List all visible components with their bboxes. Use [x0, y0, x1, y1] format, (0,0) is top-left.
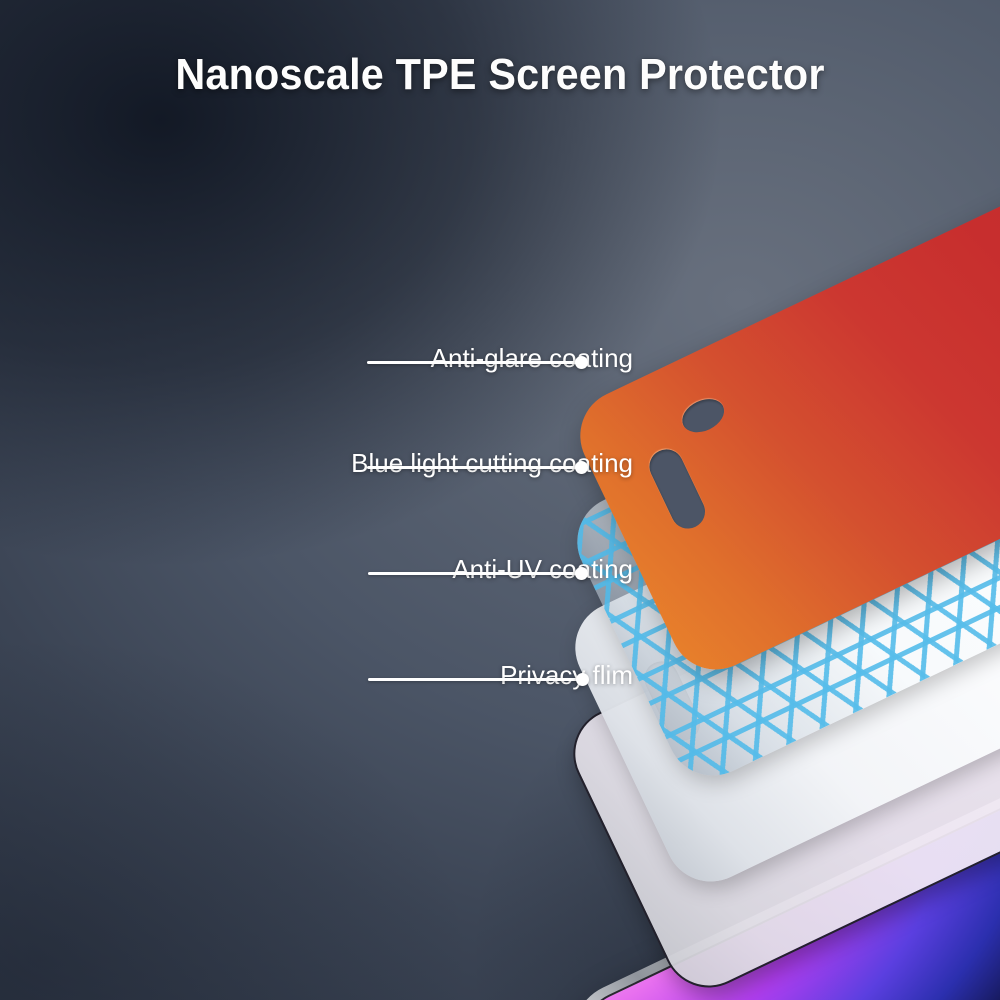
callout-privacy-film: Privacy flim — [0, 662, 633, 688]
callout-label: Anti-UV coating — [452, 556, 633, 582]
exploded-layer-stack — [0, 0, 1000, 1000]
leader-endpoint-dot — [575, 567, 588, 580]
callout-blue-light: Blue light cutting coating — [0, 450, 633, 476]
callout-anti-uv: Anti-UV coating — [0, 556, 633, 582]
leader-line — [368, 572, 581, 575]
leader-line — [368, 678, 582, 681]
leader-endpoint-dot — [576, 673, 589, 686]
camera-cutout-icon — [677, 393, 730, 439]
callout-label: Blue light cutting coating — [351, 450, 633, 476]
leader-endpoint-dot — [575, 461, 588, 474]
speaker-cutout-icon — [644, 444, 711, 534]
callout-label: Privacy flim — [500, 662, 633, 688]
leader-line — [367, 466, 581, 469]
leader-endpoint-dot — [575, 356, 588, 369]
infographic-canvas: Nanoscale TPE Screen Protector — [0, 0, 1000, 1000]
callout-anti-glare: Anti-glare coating — [0, 345, 633, 371]
leader-line — [367, 361, 581, 364]
callout-label: Anti-glare coating — [431, 345, 633, 371]
